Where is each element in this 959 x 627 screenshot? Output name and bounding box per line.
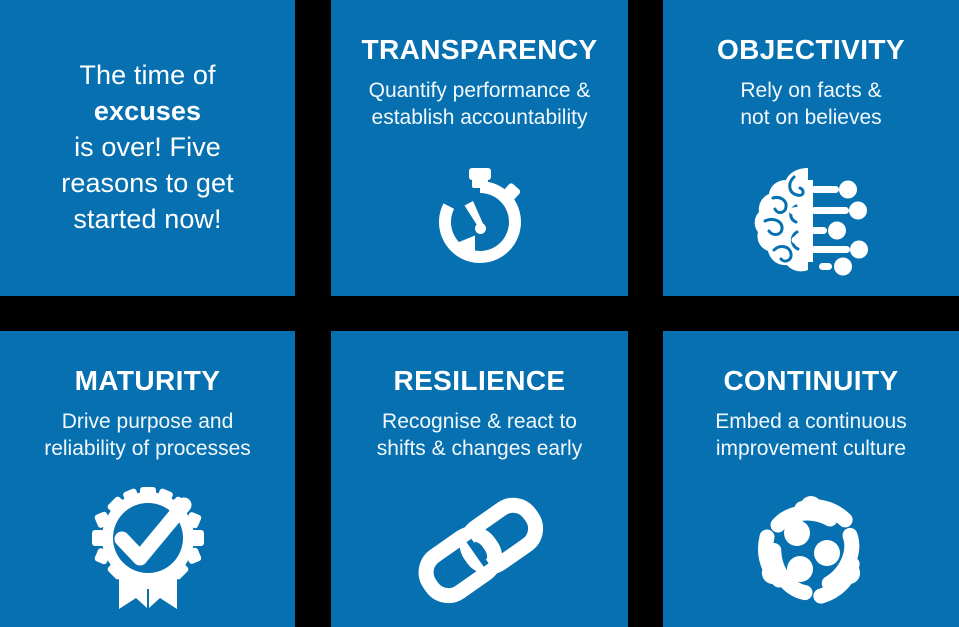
card-subtitle: Quantify performance &establish accounta…	[331, 77, 628, 131]
card-subtitle-line-2: improvement culture	[716, 437, 906, 460]
card-subtitle-line-1: Rely on facts &	[740, 79, 881, 102]
intro-emphasis: excuses	[94, 96, 201, 126]
intro-panel: The time ofexcusesis over! Fivereasons t…	[0, 0, 295, 296]
card-title: MATURITY	[0, 365, 295, 397]
card-title: TRANSPARENCY	[331, 34, 628, 66]
card-subtitle-line-1: Drive purpose and	[62, 410, 234, 433]
card-objectivity: OBJECTIVITY Rely on facts &not on believ…	[663, 0, 959, 296]
card-subtitle-line-1: Quantify performance &	[369, 79, 591, 102]
card-continuity: CONTINUITY Embed a continuousimprovement…	[663, 331, 959, 627]
intro-text: The time ofexcusesis over! Fivereasons t…	[0, 57, 295, 237]
card-subtitle-line-1: Recognise & react to	[382, 410, 577, 433]
card-title: OBJECTIVITY	[663, 34, 959, 66]
card-subtitle: Embed a continuousimprovement culture	[663, 408, 959, 462]
chain-links-icon	[331, 481, 628, 621]
card-subtitle-line-2: establish accountability	[372, 106, 588, 129]
card-subtitle: Rely on facts &not on believes	[663, 77, 959, 131]
intro-line-4: reasons to get	[61, 168, 234, 198]
stopwatch-icon	[331, 150, 628, 290]
award-rosette-check-icon	[0, 481, 295, 621]
infographic-grid: The time ofexcusesis over! Fivereasons t…	[0, 0, 959, 627]
card-maturity: MATURITY Drive purpose andreliability of…	[0, 331, 295, 627]
card-subtitle-line-1: Embed a continuous	[715, 410, 906, 433]
card-title: CONTINUITY	[663, 365, 959, 397]
intro-line-3: is over! Five	[74, 132, 221, 162]
card-subtitle: Recognise & react toshifts & changes ear…	[331, 408, 628, 462]
card-subtitle-line-2: shifts & changes early	[377, 437, 582, 460]
teamwork-circle-icon	[663, 481, 959, 621]
intro-line-5: started now!	[73, 204, 221, 234]
card-subtitle-line-2: not on believes	[740, 106, 881, 129]
card-resilience: RESILIENCE Recognise & react toshifts & …	[331, 331, 628, 627]
card-subtitle-line-2: reliability of processes	[44, 437, 251, 460]
card-transparency: TRANSPARENCY Quantify performance &estab…	[331, 0, 628, 296]
intro-line-1: The time of	[79, 60, 215, 90]
card-subtitle: Drive purpose andreliability of processe…	[0, 408, 295, 462]
card-title: RESILIENCE	[331, 365, 628, 397]
brain-circuit-icon	[663, 150, 959, 290]
